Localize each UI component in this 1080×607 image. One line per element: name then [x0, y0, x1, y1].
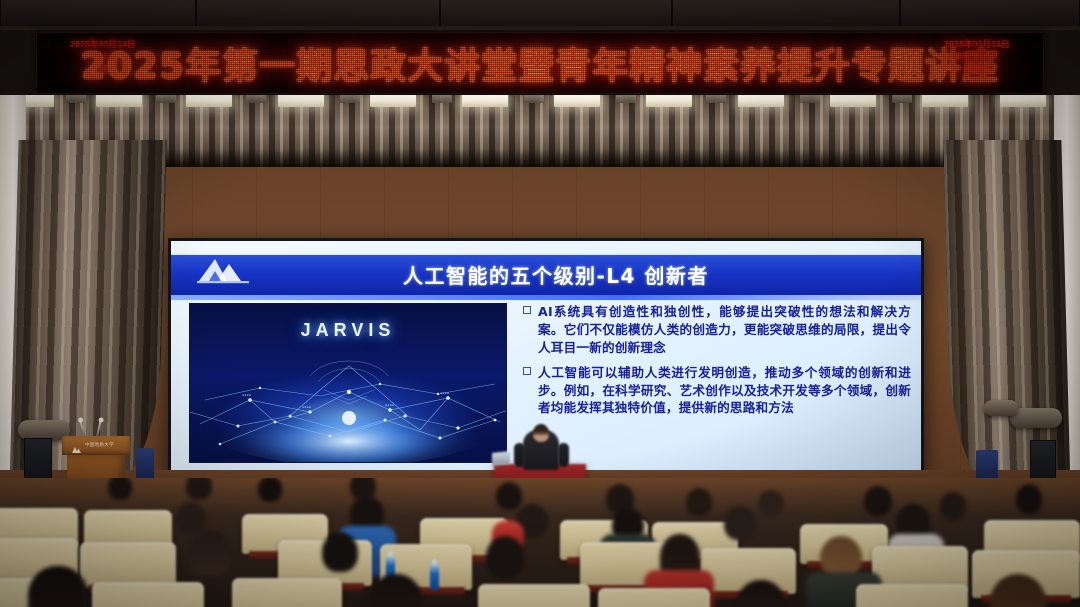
ceiling-fixture: [340, 95, 360, 103]
list-item: AI系统具有创造性和独创性，能够提出突破性的想法和解决方案。它们不仅能模仿人类的…: [523, 303, 911, 357]
audience-head: [258, 478, 282, 502]
speaker-person-head: [533, 424, 549, 442]
led-clock-right-date: 2025年03月14日: [931, 39, 1023, 49]
ceiling-fixture: [706, 95, 726, 103]
audience-head: [686, 488, 712, 516]
slide-title: 人工智能的五个级别-L4 创新者: [403, 260, 709, 289]
laptop: [492, 451, 510, 466]
audience-head: [758, 490, 784, 516]
audience-head: [322, 532, 358, 572]
podium-label: 中国地质大学: [85, 442, 114, 448]
water-bottle: [430, 564, 439, 590]
jarvis-label: JARVIS: [190, 320, 506, 341]
podium-top: 中国地质大学: [62, 436, 130, 455]
ceiling-light: [830, 95, 876, 107]
ceiling-fixture: [524, 95, 544, 103]
ceiling-light: [462, 95, 508, 107]
svg-text:▪▪▪▪: ▪▪▪▪: [385, 403, 394, 407]
audience-seat: [92, 582, 204, 607]
ceiling-light: [738, 95, 784, 107]
led-clock-right: 2025年03月14日 09:11:59 星期五: [931, 39, 1023, 74]
ceiling-light: [278, 95, 324, 107]
ceiling-light: [922, 95, 968, 107]
led-clock-right-weekday: 星期五: [931, 64, 1023, 74]
audience-seat: [232, 578, 342, 607]
led-banner-title: 2025年第一期思政大讲堂暨青年精神素养提升专题讲座: [37, 37, 1043, 89]
ceiling-fixture: [246, 95, 266, 103]
svg-text:▪▪▪▪: ▪▪▪▪: [440, 391, 449, 395]
audience-head: [186, 478, 212, 500]
audience-seat: [856, 584, 968, 607]
audience-head: [496, 482, 522, 510]
speaker-arm-right: [558, 443, 569, 467]
curtain-tieback-right: [1010, 408, 1062, 428]
ceiling-fixture: [892, 95, 912, 103]
ceiling-fixture: [156, 95, 176, 103]
audience-head: [176, 502, 206, 534]
audience-seat: [478, 584, 590, 607]
ceiling-light: [1000, 95, 1046, 107]
audience-head: [1016, 484, 1042, 514]
svg-text:▪▪▪▪: ▪▪▪▪: [302, 405, 311, 409]
ceiling-light: [370, 95, 416, 107]
audience-head: [864, 486, 892, 516]
svg-text:▪▪▪▪: ▪▪▪▪: [242, 393, 251, 397]
ceiling-fixture: [432, 95, 452, 103]
ceiling-fixture: [66, 95, 86, 103]
audience-seat: [598, 588, 710, 607]
ceiling-light: [186, 95, 232, 107]
bullet-text: 人工智能可以辅助人类进行发明创造，推动多个领域的创新和进步。例如，在科学研究、艺…: [538, 364, 911, 418]
lecture-hall-photo: 2025年03月14日 09:11:59 星期五 2025年第一期思政大讲堂暨青…: [0, 0, 1080, 607]
led-clock-right-time: 09:11:59: [931, 51, 1023, 62]
mountain-logo-icon: [71, 441, 82, 450]
audience-head: [486, 536, 524, 578]
ceiling-fixture: [800, 95, 820, 103]
audience-head: [190, 530, 230, 576]
audience-head: [940, 492, 966, 520]
ceiling-strip: [0, 0, 1080, 30]
audience-area: [0, 478, 1080, 607]
ceiling-light: [646, 95, 692, 107]
led-banner: 2025年03月14日 09:11:59 星期五 2025年第一期思政大讲堂暨青…: [36, 32, 1044, 94]
ceiling-fixture: [616, 95, 636, 103]
ceiling-light: [96, 95, 142, 107]
ceiling-light: [554, 95, 600, 107]
bullet-square-icon: [523, 306, 531, 314]
mountain-logo-icon: [195, 251, 253, 285]
bullet-text: AI系统具有创造性和独创性，能够提出突破性的想法和解决方案。它们不仅能模仿人类的…: [538, 303, 911, 357]
audience-head: [108, 478, 132, 500]
list-item: 人工智能可以辅助人类进行发明创造，推动多个领域的创新和进步。例如，在科学研究、艺…: [523, 364, 911, 418]
jarvis-image-panel: ▪▪▪▪ ▪▪▪▪ ▪▪▪▪ ▪▪▪▪ JARVIS: [189, 303, 507, 463]
bullet-square-icon: [523, 367, 531, 375]
slide-bullet-list: AI系统具有创造性和独创性，能够提出突破性的想法和解决方案。它们不仅能模仿人类的…: [523, 303, 911, 424]
curtain-tieback-right-2: [984, 400, 1018, 416]
audience-head: [724, 506, 756, 540]
